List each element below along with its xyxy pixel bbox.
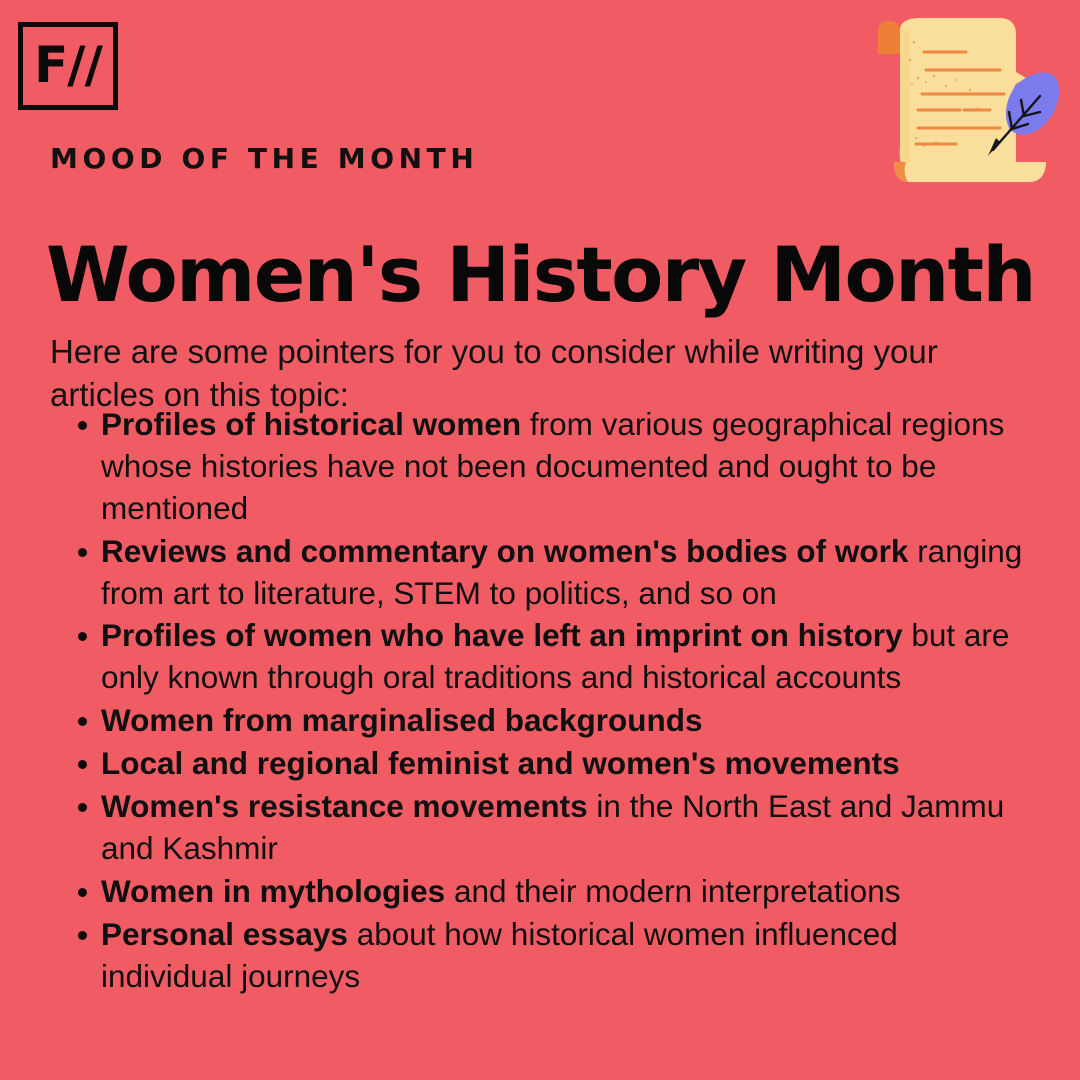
scroll-and-quill-illustration (860, 12, 1080, 197)
list-item-lead: Local and regional feminist and women's … (101, 745, 900, 781)
list-item-lead: Women's resistance movements (101, 788, 588, 824)
list-item: Personal essays about how historical wom… (64, 914, 1024, 998)
list-item: Women in mythologies and their modern in… (64, 871, 1024, 913)
logo-mark-text: F// (23, 27, 113, 105)
list-item: Profiles of historical women from variou… (64, 404, 1024, 530)
list-item-lead: Profiles of women who have left an impri… (101, 617, 903, 653)
list-item-lead: Personal essays (101, 916, 348, 952)
poster-canvas: F// (0, 0, 1080, 1080)
list-item: Profiles of women who have left an impri… (64, 615, 1024, 699)
list-item: Reviews and commentary on women's bodies… (64, 531, 1024, 615)
eyebrow-label: MOOD OF THE MONTH (50, 142, 478, 175)
list-item-lead: Women from marginalised backgrounds (101, 702, 703, 738)
scroll-top-curl-icon (878, 21, 900, 54)
brand-logo: F// (18, 22, 118, 110)
list-item: Local and regional feminist and women's … (64, 743, 1024, 785)
list-item-lead: Profiles of historical women (101, 406, 521, 442)
scroll-bottom-roll-icon (894, 162, 1046, 182)
scroll-paper-icon (900, 18, 1016, 162)
list-item: Women from marginalised backgrounds (64, 700, 1024, 742)
list-item-rest: and their modern interpretations (445, 873, 900, 909)
list-item-lead: Women in mythologies (101, 873, 445, 909)
page-title: Women's History Month (46, 237, 1035, 313)
pointers-list: Profiles of historical women from variou… (64, 404, 1024, 998)
list-item: Women's resistance movements in the Nort… (64, 786, 1024, 870)
list-item-lead: Reviews and commentary on women's bodies… (101, 533, 908, 569)
